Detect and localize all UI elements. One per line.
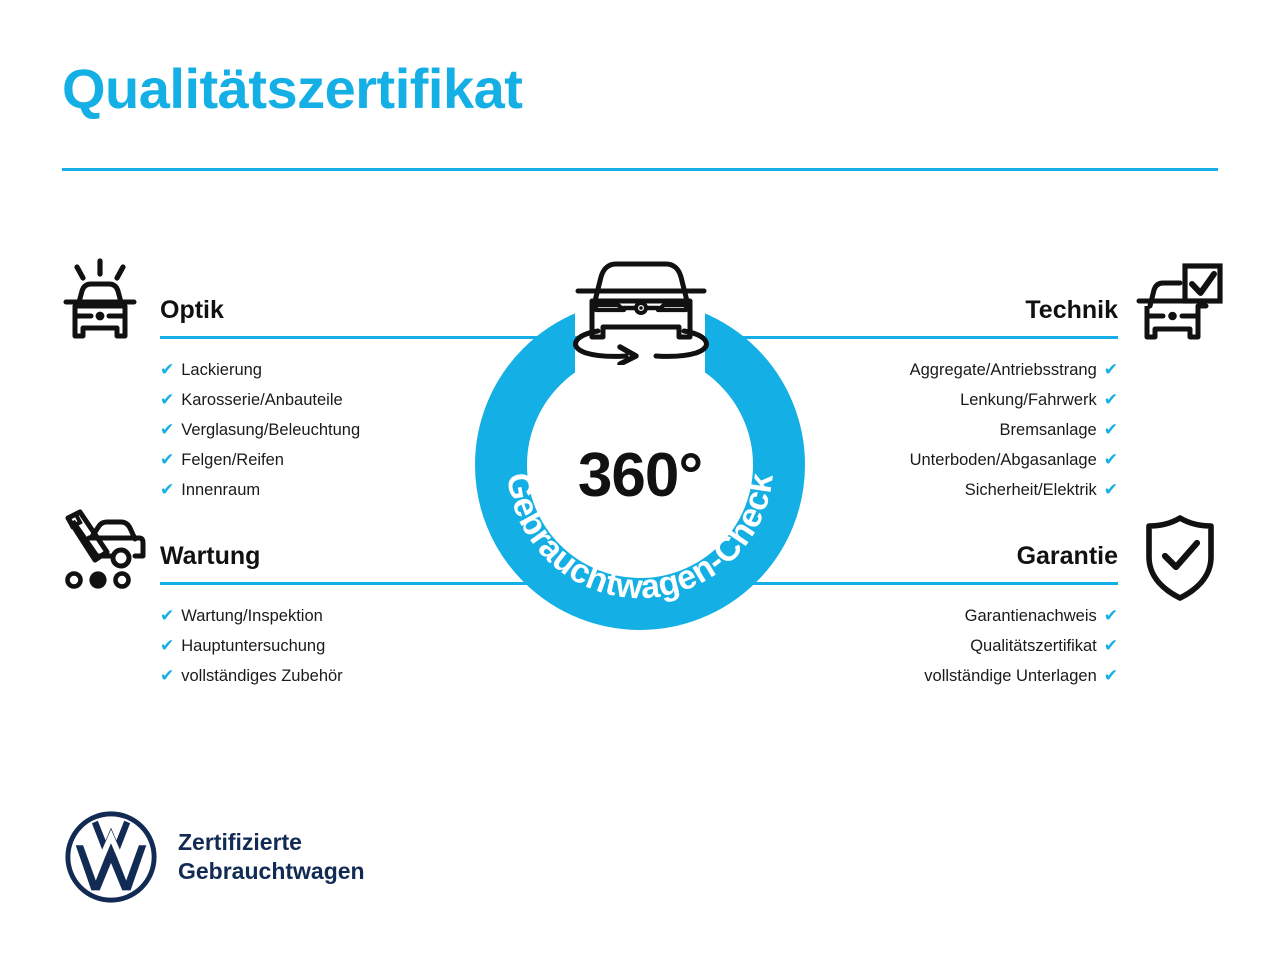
list-item-label: Wartung/Inspektion [181,607,323,625]
check-icon: ✔ [1104,480,1118,499]
car-pencil-service-icon [55,508,147,599]
list-item-label: Karosserie/Anbauteile [181,391,342,409]
vw-certified-logo: Zertifizierte Gebrauchtwagen [62,808,365,906]
list-item-label: vollständige Unterlagen [924,667,1096,685]
check-icon: ✔ [1104,420,1118,439]
list-item-label: Lenkung/Fahrwerk [960,391,1097,409]
footer-line-2: Gebrauchtwagen [178,857,365,886]
check-icon: ✔ [1104,360,1118,379]
shield-check-icon [1142,514,1218,607]
page-title: Qualitätszertifikat [62,58,522,120]
badge-center-label: 360° [455,440,825,511]
list-item-label: Hauptuntersuchung [181,637,325,655]
list-item: Qualitätszertifikat✔ [700,631,1118,661]
check-icon: ✔ [160,450,174,469]
list-item-label: vollständiges Zubehör [181,667,342,685]
check-icon: ✔ [1104,450,1118,469]
check-icon: ✔ [160,480,174,499]
list-item-label: Aggregate/Antriebsstrang [910,361,1097,379]
list-item-label: Innenraum [181,481,260,499]
car-checkbox-icon [1136,262,1224,351]
footer-line-1: Zertifizierte [178,828,365,857]
check-icon: ✔ [160,420,174,439]
car-shine-icon [60,258,140,353]
check-icon: ✔ [1104,606,1118,625]
check-icon: ✔ [160,360,174,379]
check-icon: ✔ [1104,666,1118,685]
gebrauchtwagen-check-badge: Gebrauchtwagen-Check 360° [455,255,825,625]
check-icon: ✔ [160,666,174,685]
check-icon: ✔ [160,636,174,655]
check-icon: ✔ [160,606,174,625]
list-item-label: Felgen/Reifen [181,451,284,469]
vw-logo-icon [62,808,160,906]
list-item-label: Lackierung [181,361,262,379]
list-item: ✔vollständiges Zubehör [160,661,578,691]
list-item-label: Bremsanlage [1000,421,1097,439]
list-item-label: Sicherheit/Elektrik [965,481,1097,499]
list-item: vollständige Unterlagen✔ [700,661,1118,691]
list-item-label: Garantienachweis [965,607,1097,625]
car-rotate-icon [556,255,726,365]
list-item: ✔Hauptuntersuchung [160,631,578,661]
check-icon: ✔ [1104,636,1118,655]
list-item-label: Unterboden/Abgasanlage [910,451,1097,469]
header-divider [62,168,1218,171]
check-icon: ✔ [1104,390,1118,409]
list-item-label: Qualitätszertifikat [970,637,1097,655]
list-item-label: Verglasung/Beleuchtung [181,421,360,439]
check-icon: ✔ [160,390,174,409]
footer-text: Zertifizierte Gebrauchtwagen [178,828,365,887]
